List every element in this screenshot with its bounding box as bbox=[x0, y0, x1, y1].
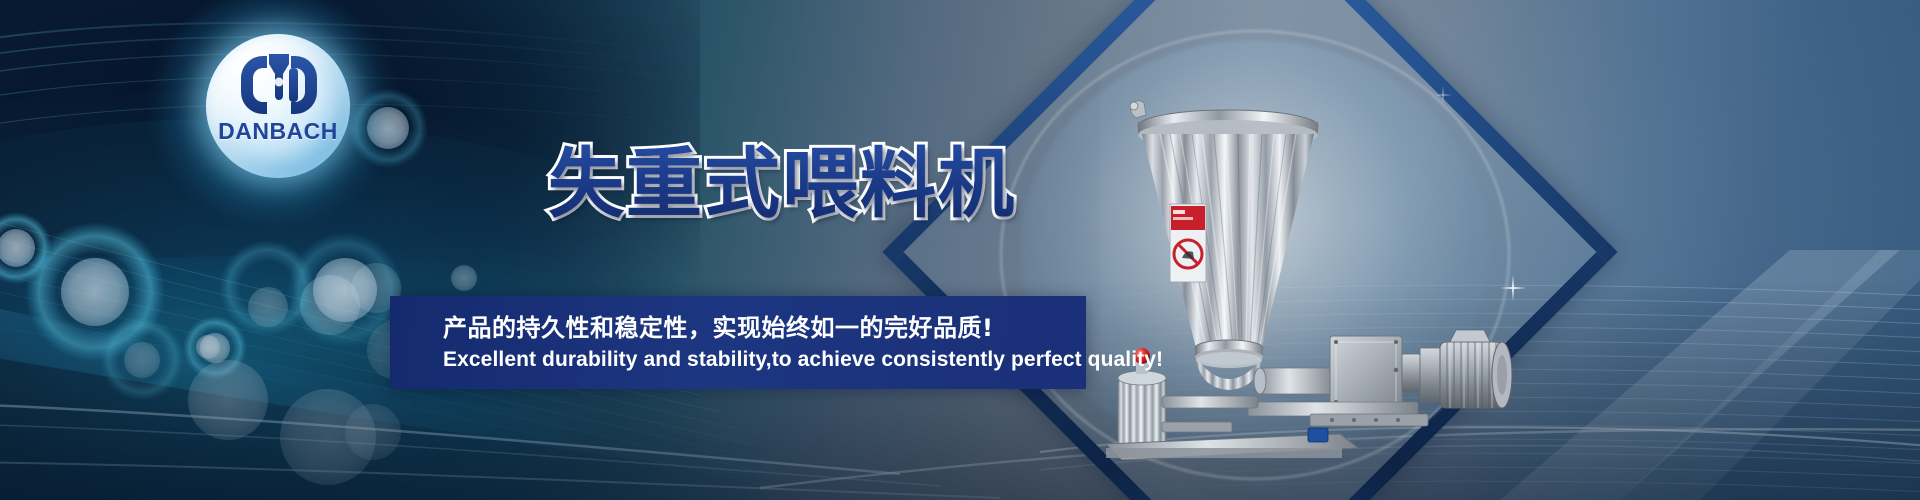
sparkle-icon bbox=[1434, 86, 1452, 104]
blue-marker-block bbox=[1308, 428, 1328, 442]
page-title: 失重式喂料机 bbox=[548, 122, 1016, 232]
tagline-english: Excellent durability and stability,to ac… bbox=[443, 348, 1163, 372]
tagline-box: 产品的持久性和稳定性，实现始终如一的完好品质! Excellent durabi… bbox=[390, 296, 1086, 389]
tagline-chinese: 产品的持久性和稳定性，实现始终如一的完好品质! bbox=[443, 308, 993, 343]
promo-banner: DANBACH 失重式喂料机 失重式喂料机 产品的持久性和稳定性，实现始终如一的… bbox=[0, 0, 1920, 500]
brand-logo[interactable]: DANBACH bbox=[178, 22, 368, 194]
brand-name: DANBACH bbox=[198, 118, 358, 145]
danbach-logo-mark bbox=[233, 46, 325, 124]
warning-label bbox=[1170, 204, 1206, 282]
sparkle-icon bbox=[1500, 275, 1526, 301]
